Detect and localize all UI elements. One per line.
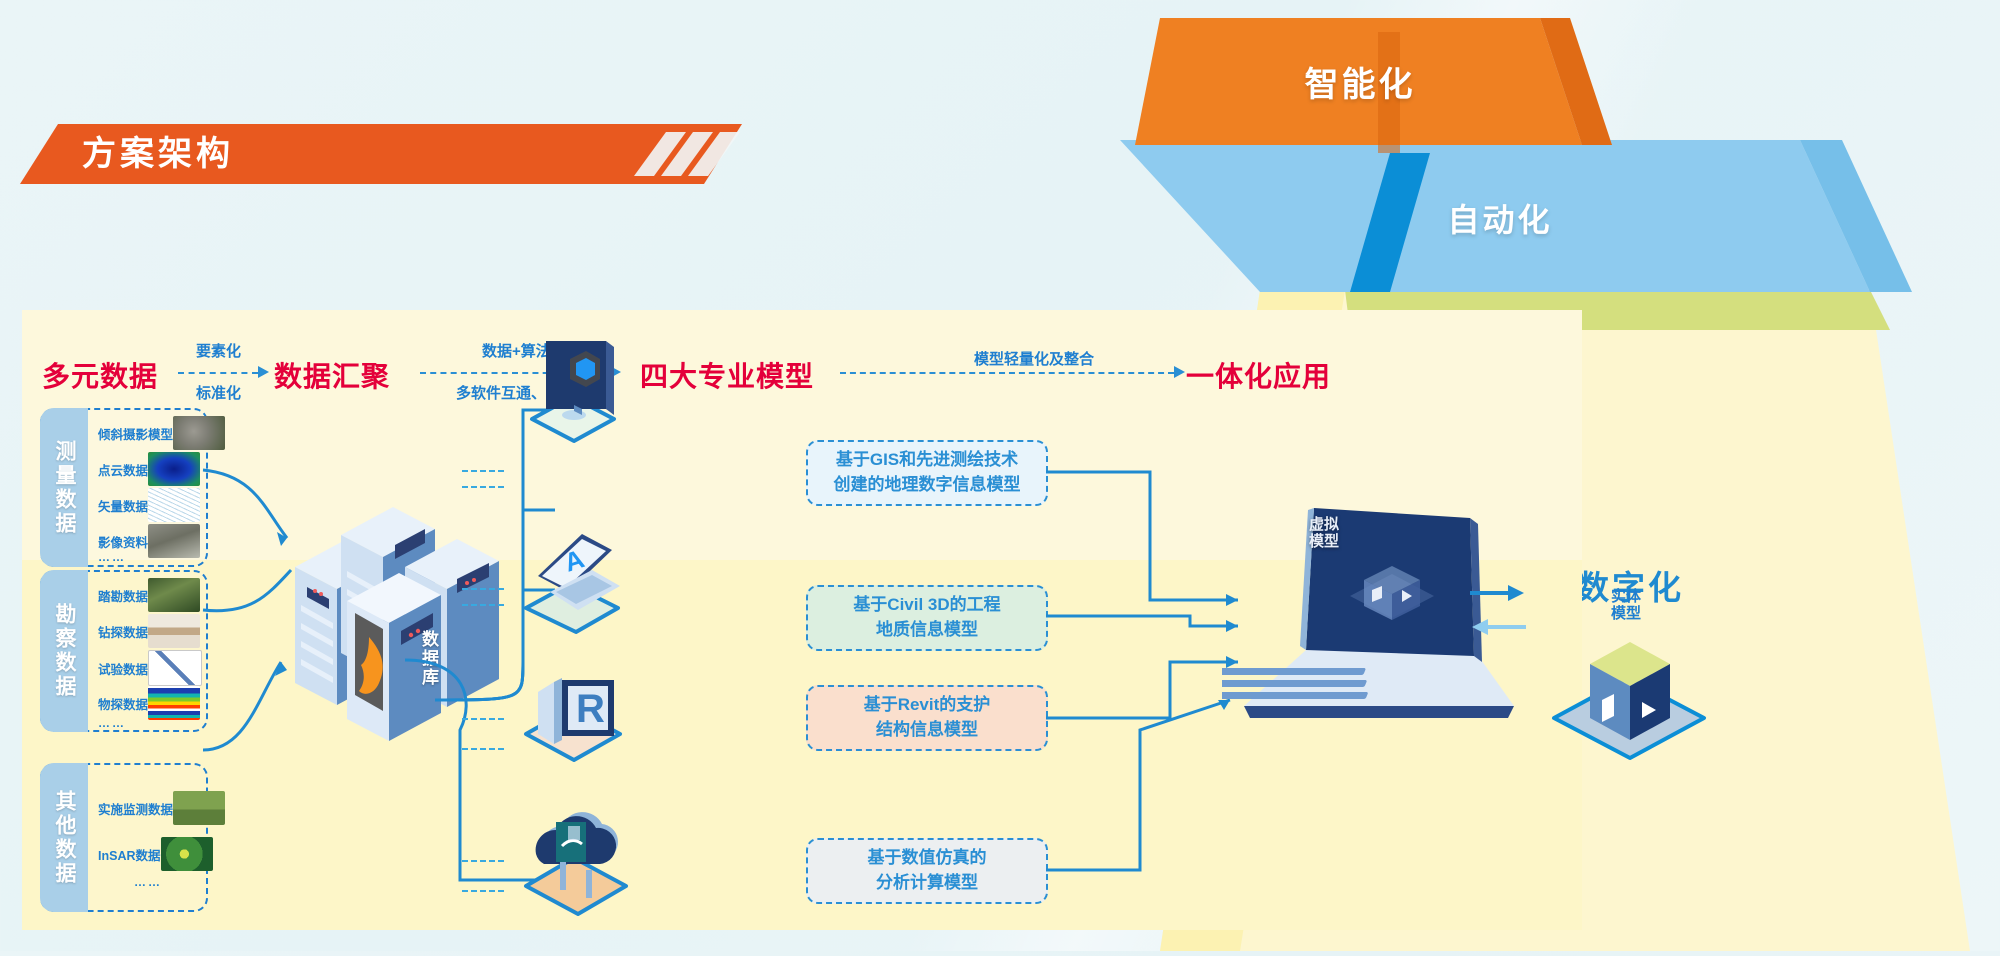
connector-label-1b: 标准化 — [196, 382, 241, 403]
list-item-label: 点云数据 — [98, 460, 148, 479]
list-item-more: …… — [98, 875, 198, 889]
bus-dash-1a — [462, 470, 504, 472]
more-dots: …… — [134, 875, 162, 889]
list-item[interactable]: InSAR数据 — [98, 837, 198, 871]
cube-icon — [1538, 622, 1718, 762]
list-item[interactable]: 物探数据 — [98, 686, 198, 720]
bus-dash-4a — [462, 860, 504, 862]
data-group-other-tab: 其他数据 — [40, 763, 88, 912]
bus-dash-3a — [462, 718, 504, 720]
list-item-label: InSAR数据 — [98, 845, 161, 864]
data-group-investigation-rows: 踏勘数据 钻探数据 试验数据 物探数据 …… — [98, 576, 202, 726]
data-group-survey-rows: 倾斜摄影模型 点云数据 矢量数据 影像资料 …… — [98, 414, 202, 561]
data-group-other[interactable]: 其他数据 实施监测数据 InSAR数据 …… — [40, 763, 208, 912]
list-item[interactable]: 钻探数据 — [98, 614, 198, 648]
laptop-autocad-icon: A — [510, 530, 640, 640]
model-box-simulation-text: 基于数值仿真的分析计算模型 — [868, 846, 987, 895]
connector-line-1 — [178, 372, 258, 374]
data-group-survey[interactable]: 测量数据 倾斜摄影模型 点云数据 矢量数据 影像资料 …… — [40, 408, 208, 567]
model-box-simulation[interactable]: 基于数值仿真的分析计算模型 — [806, 838, 1048, 904]
model-box-revit-text: 基于Revit的支护结构信息模型 — [864, 693, 991, 742]
data-group-other-label: 其他数据 — [49, 790, 79, 886]
cloud-compute-icon — [510, 800, 650, 920]
pyramid-layer-intelligent: 智能化 — [1135, 20, 1585, 142]
data-group-survey-tab: 测量数据 — [40, 408, 88, 567]
connector-line-3 — [840, 372, 1174, 374]
list-item-label: 钻探数据 — [98, 622, 148, 641]
data-group-investigation-tab: 勘察数据 — [40, 570, 88, 732]
list-item-label: 倾斜摄影模型 — [98, 424, 173, 443]
pyramid-label-intelligent: 智能化 — [1305, 57, 1416, 106]
stage-title-3: 四大专业模型 — [640, 355, 814, 395]
list-item[interactable]: 试验数据 — [98, 650, 198, 686]
connector-arrow-3 — [1174, 366, 1185, 378]
data-group-survey-label: 测量数据 — [49, 440, 79, 536]
lab-test-chart-thumb — [148, 650, 202, 686]
stage-title-2: 数据汇聚 — [274, 355, 390, 395]
data-group-investigation[interactable]: 勘察数据 踏勘数据 钻探数据 试验数据 物探数据 …… — [40, 570, 208, 732]
entity-model-label: 实体模型 — [1576, 588, 1676, 623]
virtual-model-label: 虚拟模型 — [1284, 516, 1364, 551]
bus-dash-4b — [462, 890, 504, 892]
list-item[interactable]: 矢量数据 — [98, 488, 198, 522]
bus-dash-2a — [462, 588, 504, 590]
list-item-more: …… — [98, 716, 198, 730]
bus-dash-3b — [462, 748, 504, 750]
pyramid-label-automation: 自动化 — [1447, 195, 1552, 241]
list-item-label: 影像资料 — [98, 532, 148, 551]
list-item[interactable]: 踏勘数据 — [98, 578, 198, 612]
list-item[interactable]: 实施监测数据 — [98, 791, 198, 825]
point-cloud-thumb — [148, 452, 200, 486]
bus-dash-1b — [462, 486, 504, 488]
bus-dash-2b — [462, 604, 504, 606]
list-item-more: …… — [98, 550, 198, 564]
geophysical-section-thumb — [148, 686, 200, 720]
list-item-label: 矢量数据 — [98, 496, 148, 515]
insar-thumb — [161, 837, 213, 871]
list-item-label: 物探数据 — [98, 694, 148, 713]
stage-title-4: 一体化应用 — [1186, 355, 1331, 395]
stage-title-1: 多元数据 — [42, 355, 158, 395]
pyramid-layer-automation: 自动化 — [1130, 145, 1870, 290]
model-box-civil3d-text: 基于Civil 3D的工程地质信息模型 — [853, 593, 1000, 642]
desktop-monitor-cube-icon — [510, 335, 640, 450]
field-survey-thumb — [148, 578, 200, 612]
model-box-revit[interactable]: 基于Revit的支护结构信息模型 — [806, 685, 1048, 751]
connector-arrow-1 — [258, 366, 269, 378]
exchange-arrows — [1468, 583, 1538, 643]
vector-contour-thumb — [148, 488, 200, 522]
connector-label-1a: 要素化 — [196, 340, 241, 361]
desktop-revit-icon: R — [510, 660, 640, 770]
list-item-label: 实施监测数据 — [98, 799, 173, 818]
list-item[interactable]: 点云数据 — [98, 452, 198, 486]
more-dots: …… — [98, 550, 126, 564]
model-box-gis[interactable]: 基于GIS和先进测绘技术创建的地理数字信息模型 — [806, 440, 1048, 506]
data-group-other-rows: 实施监测数据 InSAR数据 …… — [98, 769, 202, 906]
list-item-label: 试验数据 — [98, 659, 148, 678]
connector-label-3a: 模型轻量化及整合 — [974, 348, 1094, 369]
more-dots: …… — [98, 716, 126, 730]
list-item[interactable]: 倾斜摄影模型 — [98, 416, 198, 450]
drilling-core-thumb — [148, 614, 200, 648]
page-title: 方案架构 — [82, 126, 234, 175]
model-box-gis-text: 基于GIS和先进测绘技术创建的地理数字信息模型 — [834, 448, 1021, 497]
data-group-investigation-label: 勘察数据 — [49, 603, 79, 699]
svg-text:R: R — [576, 687, 605, 731]
model-box-civil3d[interactable]: 基于Civil 3D的工程地质信息模型 — [806, 585, 1048, 651]
list-item-label: 踏勘数据 — [98, 586, 148, 605]
